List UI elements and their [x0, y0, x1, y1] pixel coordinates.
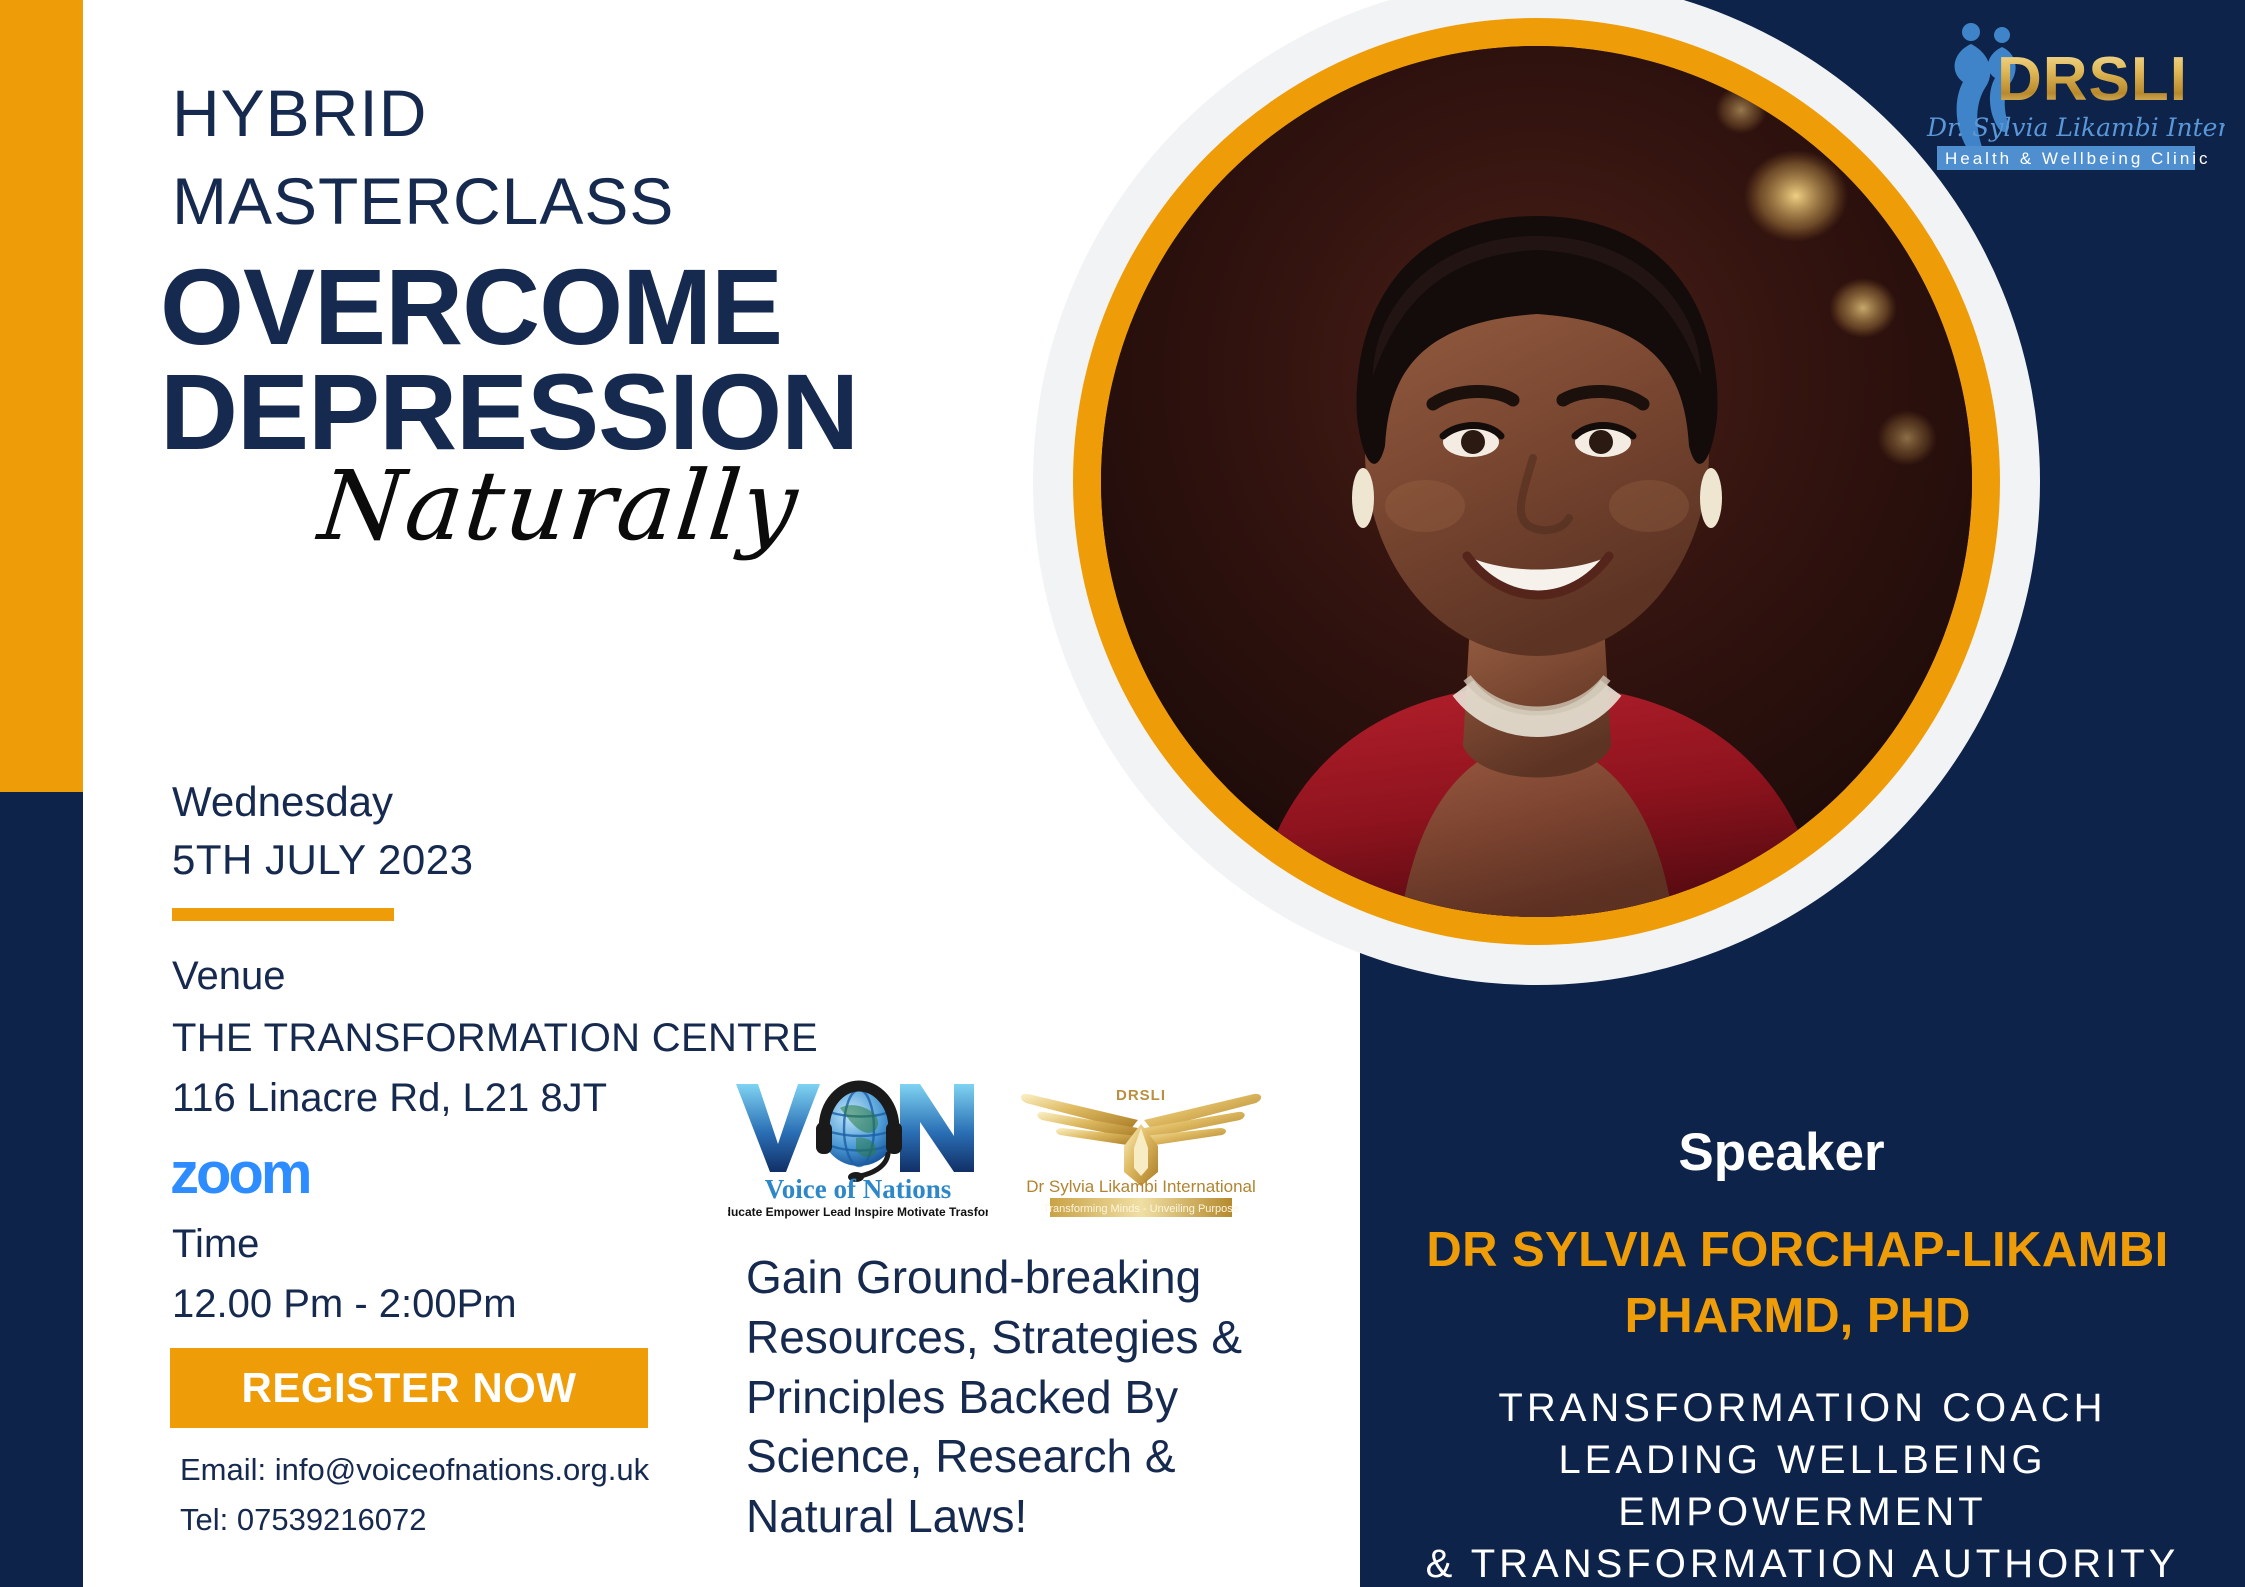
- orange-divider-rule: [172, 908, 394, 921]
- speaker-name: DR SYLVIA FORCHAP-LIKAMBI: [1360, 1222, 2245, 1278]
- speaker-role-line-2: LEADING WELLBEING EMPOWERMENT: [1368, 1434, 2237, 1538]
- drsli-wing-name: Dr Sylvia Likambi International: [1026, 1177, 1256, 1196]
- speaker-portrait-photo: [1101, 46, 1972, 917]
- event-date: 5TH JULY 2023: [172, 836, 473, 884]
- globe-headset-icon: [816, 1086, 902, 1182]
- speaker-role-line-1: TRANSFORMATION COACH: [1368, 1382, 2237, 1434]
- speaker-label: Speaker: [1360, 1122, 2245, 1183]
- zoom-logo: zoom: [170, 1140, 309, 1207]
- contact-email[interactable]: Email: info@voiceofnations.org.uk: [180, 1452, 649, 1488]
- time-value: 12.00 Pm - 2:00Pm: [172, 1282, 517, 1327]
- venue-label: Venue: [172, 954, 285, 999]
- von-name: Voice of Nations: [765, 1174, 952, 1204]
- venue-name: THE TRANSFORMATION CENTRE: [172, 1016, 818, 1061]
- flyer-canvas: DRSLI Dr. Sylvia Likambi International H…: [0, 0, 2245, 1587]
- benefit-copy: Gain Ground-breaking Resources, Strategi…: [746, 1248, 1306, 1547]
- left-edge-navy-bar: [0, 792, 83, 1587]
- svg-text:Dr. Sylvia Likambi Internation: Dr. Sylvia Likambi International: [1926, 113, 2225, 142]
- voice-of-nations-logo: Voice of Nations Educate Empower Lead In…: [728, 1072, 988, 1222]
- drsli-wings-logo: DRSLI Dr Sylvia Likambi International Tr…: [1010, 1068, 1272, 1223]
- drsli-wing-tagline: Transforming Minds - Unveiling Purpose: [1043, 1203, 1239, 1215]
- contact-telephone[interactable]: Tel: 07539216072: [180, 1502, 427, 1538]
- kicker-line-2: MASTERCLASS: [172, 168, 674, 234]
- left-edge-orange-bar: [0, 0, 83, 792]
- svg-text:Health & Wellbeing Clinic: Health & Wellbeing Clinic: [1945, 149, 2211, 168]
- register-now-button[interactable]: REGISTER NOW: [170, 1348, 648, 1428]
- speaker-role-line-3: & TRANSFORMATION AUTHORITY: [1368, 1538, 2237, 1587]
- svg-text:DRSLI: DRSLI: [1997, 45, 2188, 114]
- script-subtitle: Naturally: [314, 450, 804, 562]
- drsli-wing-acronym: DRSLI: [1116, 1087, 1166, 1104]
- von-tagline: Educate Empower Lead Inspire Motivate Tr…: [728, 1205, 988, 1219]
- speaker-role: TRANSFORMATION COACH LEADING WELLBEING E…: [1360, 1382, 2245, 1587]
- drsli-header-logo: DRSLI Dr. Sylvia Likambi International H…: [1905, 8, 2225, 188]
- time-label: Time: [172, 1222, 259, 1267]
- speaker-credentials: PHARMD, PHD: [1360, 1288, 2245, 1344]
- wings-icon: [1021, 1094, 1261, 1186]
- venue-address: 116 Linacre Rd, L21 8JT: [172, 1076, 607, 1121]
- headline-line-1: OVERCOME: [160, 255, 782, 360]
- kicker-line-1: HYBRID: [172, 80, 427, 146]
- event-day: Wednesday: [172, 778, 393, 826]
